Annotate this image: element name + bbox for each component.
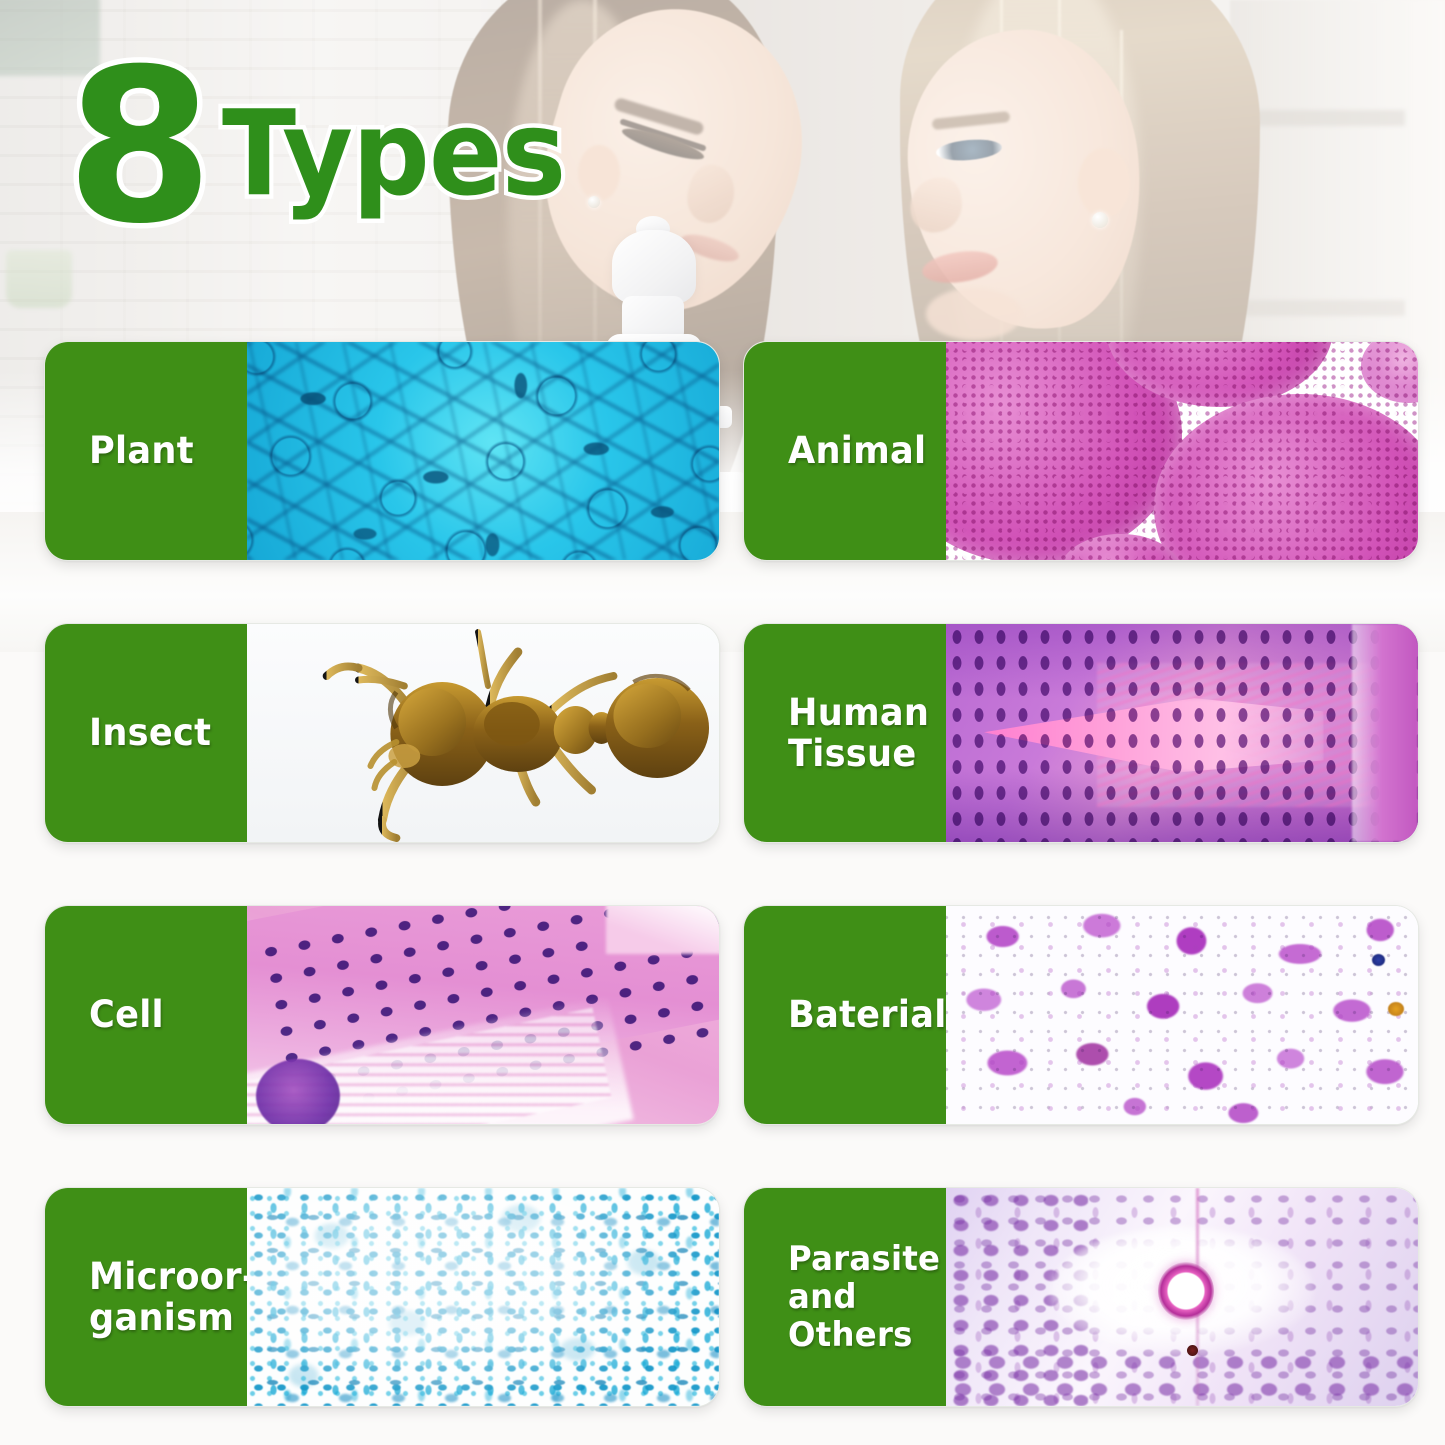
stomata [247,342,719,560]
card-label-insect: Insect [89,712,211,753]
card-label-human-tissue: HumanTissue [788,692,929,775]
type-card-plant[interactable]: Plant [44,341,720,561]
field-highlight [247,1188,719,1406]
dark-particle [1187,1345,1198,1356]
bacteria-dust [946,906,1418,1124]
label-panel: Microor-ganism [45,1188,247,1406]
human-tissue-micrograph [946,624,1418,842]
type-card-human-tissue[interactable]: HumanTissue [743,623,1419,843]
card-label-animal: Animal [788,430,926,471]
ant-whole-mount [247,624,719,842]
type-card-baterial[interactable]: Baterial [743,905,1419,1125]
specimen-image-plant [247,342,719,560]
specimen-image-parasite [946,1188,1418,1406]
animal-tissue-micrograph [946,342,1418,560]
type-card-cell[interactable]: Cell [44,905,720,1125]
label-panel: Plant [45,342,247,560]
debris-particle [1372,954,1385,966]
title-word: Types [222,94,565,212]
specimen-image-cell [247,906,719,1124]
label-panel: Insect [45,624,247,842]
cell-cartilage-micrograph [247,906,719,1124]
card-label-plant: Plant [89,430,194,471]
card-label-baterial: Baterial [788,994,947,1035]
card-label-parasite: ParasiteandOthers [788,1240,940,1354]
microorganism-micrograph [247,1188,719,1406]
product-infographic: 8 Types Plant Animal [0,0,1445,1445]
specimen-image-insect [247,624,719,842]
plant-epidermis-micrograph [247,342,719,560]
gland-texture [946,624,1418,842]
label-panel: Baterial [744,906,946,1124]
cell-nuclei-texture [946,342,1418,560]
specimen-image-animal [946,342,1418,560]
specimen-image-microorganism [247,1188,719,1406]
page-title: 8 Types [66,60,595,234]
type-card-microorganism[interactable]: Microor-ganism [44,1187,720,1407]
label-panel: HumanTissue [744,624,946,842]
specimen-image-human-tissue [946,624,1418,842]
card-label-microorganism: Microor-ganism [89,1256,257,1339]
label-panel: Animal [744,342,946,560]
label-panel: ParasiteandOthers [744,1188,946,1406]
tissue-highlight [606,906,719,954]
gland-cluster-bottom [946,1349,1418,1406]
types-grid: Plant Animal [44,341,1419,1407]
parasite-tissue-micrograph [946,1188,1418,1406]
type-card-parasite[interactable]: ParasiteandOthers [743,1187,1419,1407]
card-label-cell: Cell [89,994,164,1035]
label-panel: Cell [45,906,247,1124]
tissue-edge [1352,624,1418,842]
type-card-animal[interactable]: Animal [743,341,1419,561]
debris-particle [1388,1002,1404,1016]
type-card-insect[interactable]: Insect [44,623,720,843]
specimen-image-baterial [946,906,1418,1124]
bacteria-smear-micrograph [946,906,1418,1124]
ant-body [388,676,709,786]
title-count: 8 [66,60,210,234]
